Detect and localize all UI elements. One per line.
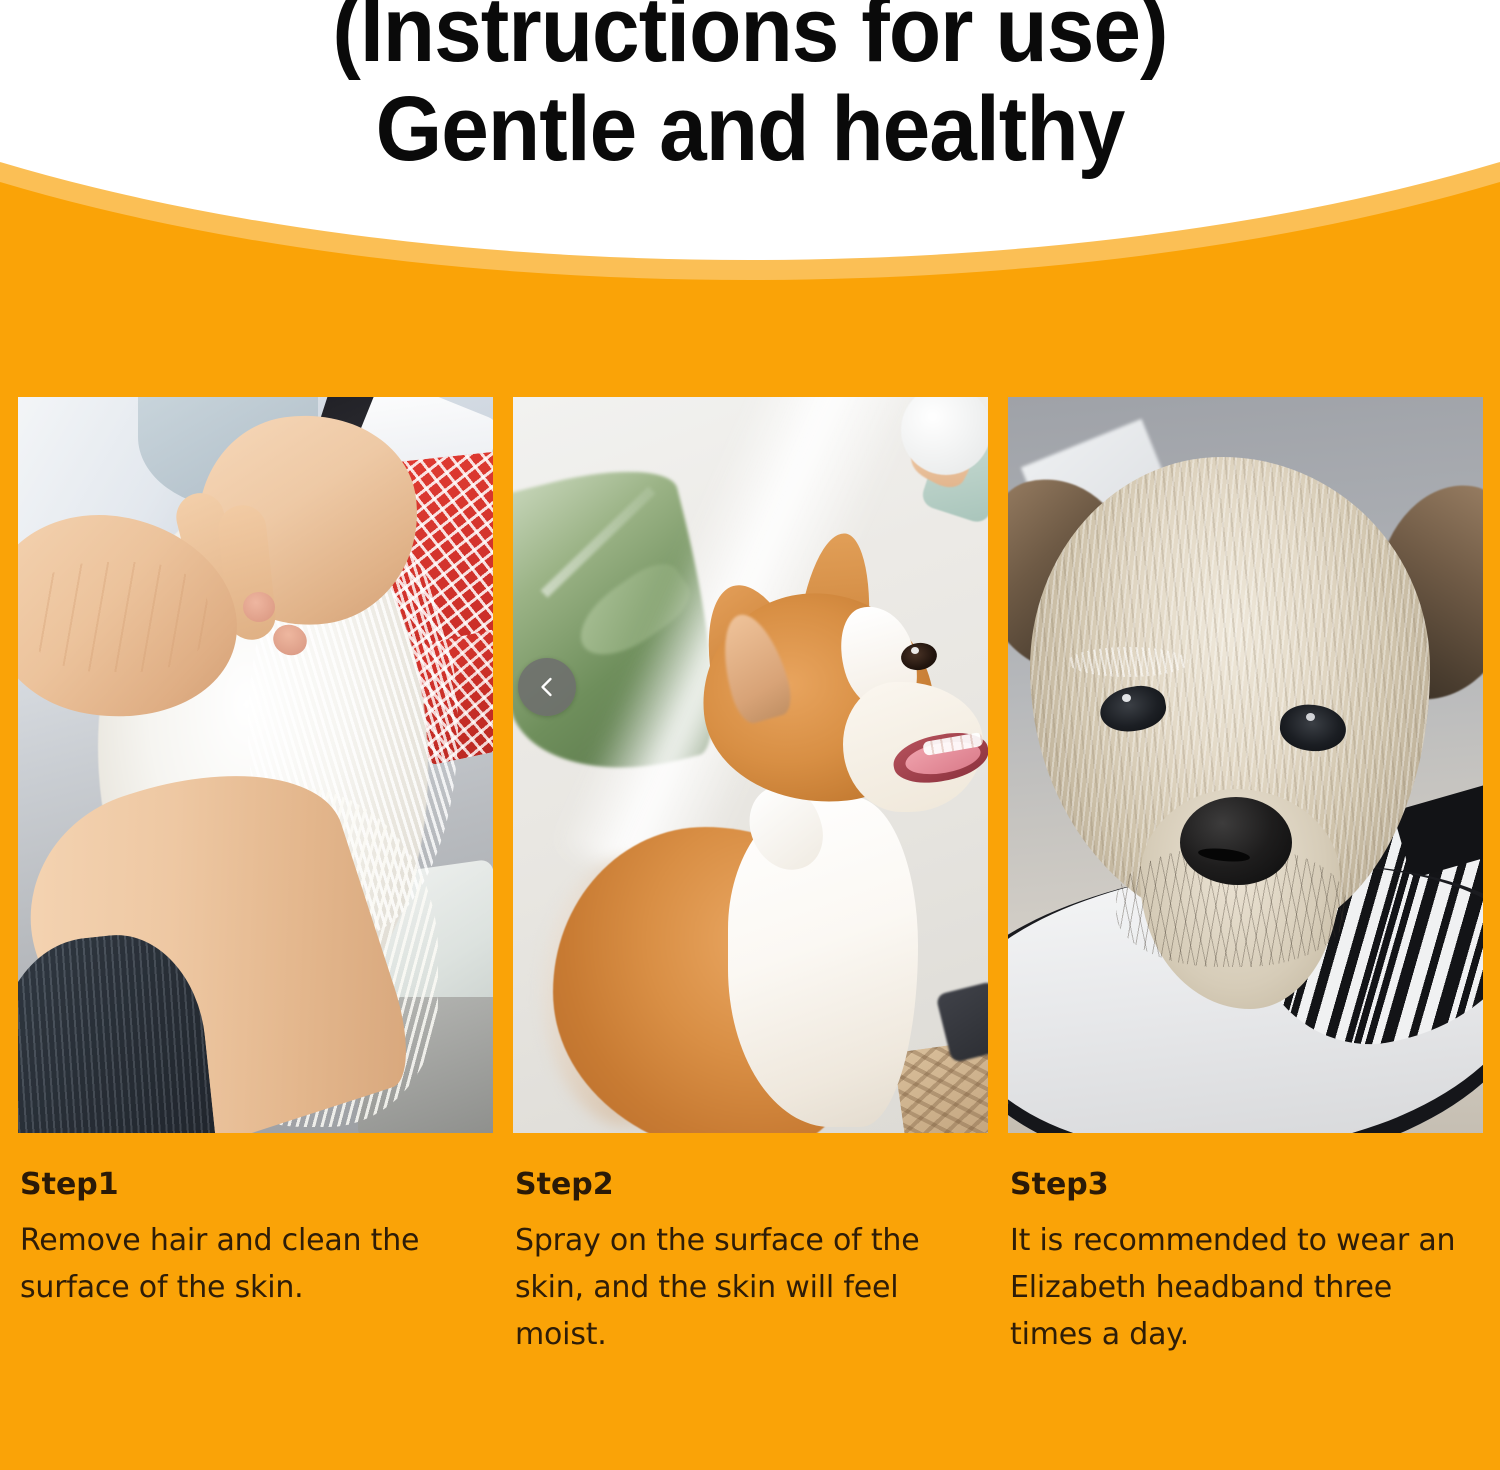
- photo-dog-with-cone-collar: [1008, 397, 1483, 1133]
- photo-hands-parting-fur: [18, 397, 493, 1133]
- step-image-1: [18, 397, 493, 1133]
- photo-corgi-looking-up: [513, 397, 988, 1133]
- chevron-left-icon: [534, 674, 560, 700]
- page-title: (Instructions for use) Gentle and health…: [53, 0, 1448, 174]
- step-image-2: [513, 397, 988, 1133]
- poster-header: (Instructions for use) Gentle and health…: [0, 0, 1500, 300]
- step-1-body: Remove hair and clean the surface of the…: [20, 1217, 475, 1312]
- step-caption-3: Step3 It is recommended to wear an Eliza…: [1010, 1168, 1465, 1359]
- page-title-line-1: (Instructions for use): [53, 0, 1448, 75]
- step-3-body: It is recommended to wear an Elizabeth h…: [1010, 1217, 1465, 1359]
- step-caption-2: Step2 Spray on the surface of the skin, …: [515, 1168, 970, 1359]
- carousel-prev-button[interactable]: [518, 658, 576, 716]
- step-2-title: Step2: [515, 1168, 970, 1203]
- instructions-poster: (Instructions for use) Gentle and health…: [0, 0, 1500, 1470]
- step-caption-1: Step1 Remove hair and clean the surface …: [20, 1168, 475, 1311]
- page-title-line-2: Gentle and healthy: [53, 85, 1448, 174]
- step-1-title: Step1: [20, 1168, 475, 1203]
- step-2-body: Spray on the surface of the skin, and th…: [515, 1217, 970, 1359]
- step-image-row: [0, 397, 1500, 1137]
- step-image-3: [1008, 397, 1483, 1133]
- step-3-title: Step3: [1010, 1168, 1465, 1203]
- step-caption-row: Step1 Remove hair and clean the surface …: [0, 1168, 1500, 1470]
